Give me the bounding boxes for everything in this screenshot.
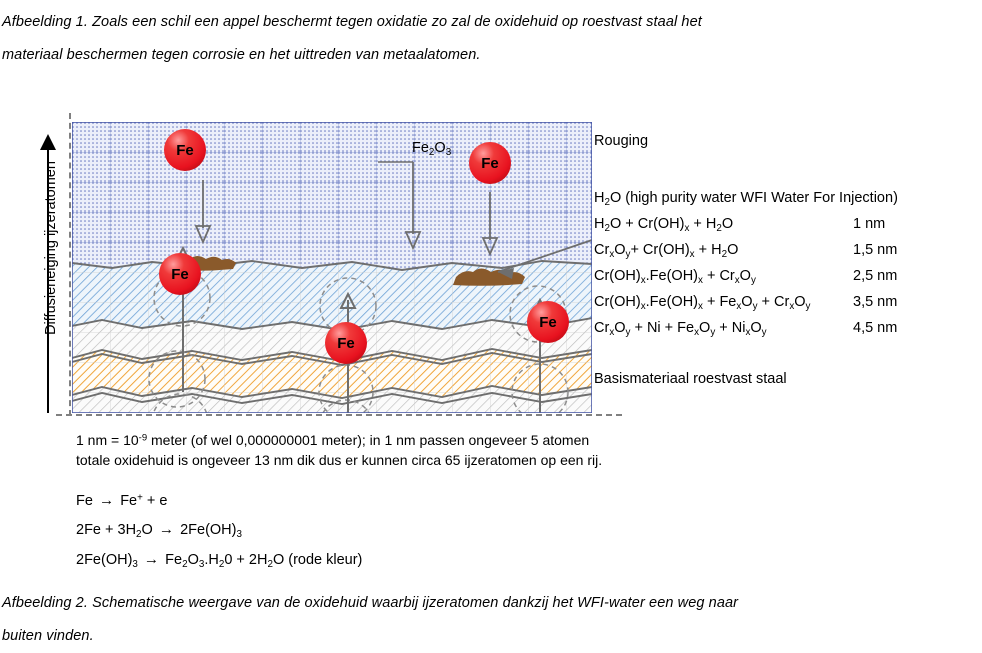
frame-bottom-dashed-border — [56, 414, 622, 416]
oxide-layer-diagram — [72, 122, 592, 413]
layer-formula-5: CrxOy + Ni + FexOy + NixOy — [594, 320, 767, 338]
eq2: 2Fe + 3H2O → 2Fe(OH)3 — [76, 521, 242, 540]
atom-label: Fe — [481, 155, 499, 172]
axis-label: Diffusieneiging ijzeratomen — [43, 123, 59, 373]
layer-formula-2: CrxOy+ Cr(OH)x + H2O — [594, 242, 738, 260]
figure2-caption-line1: Afbeelding 2. Schematische weergave van … — [2, 587, 738, 620]
eq3: 2Fe(OH)3 → Fe2O3.H20 + 2H2O (rode kleur) — [76, 551, 362, 570]
rouging-label: Rouging — [594, 133, 648, 149]
frame-left-dashed-border — [69, 113, 71, 416]
layer-formula-4: Cr(OH)x.Fe(OH)x + FexOy + CrxOy — [594, 294, 810, 312]
layer-thickness-1: 1 nm — [853, 216, 885, 232]
nm-definition-note-line2: totale oxidehuid is ongeveer 13 nm dik d… — [76, 452, 602, 468]
atom-label: Fe — [337, 335, 355, 352]
figure2-caption-line2: buiten vinden. — [2, 620, 94, 653]
fe-bottom-mid: Fe — [325, 322, 367, 364]
diffusion-axis: Diffusieneiging ijzeratomen — [14, 120, 64, 415]
atom-label: Fe — [176, 142, 194, 159]
layer-thickness-5: 4,5 nm — [853, 320, 897, 336]
layer-formula-3: Cr(OH)x.Fe(OH)x + CrxOy — [594, 268, 756, 286]
fe2o3-label: Fe2O3 — [412, 140, 451, 158]
layer-thickness-4: 3,5 nm — [853, 294, 897, 310]
figure1-caption-line2: materiaal beschermen tegen corrosie en h… — [2, 39, 481, 72]
fe-top-right: Fe — [469, 142, 511, 184]
atom-label: Fe — [171, 266, 189, 283]
layer-thickness-3: 2,5 nm — [853, 268, 897, 284]
fe-mid-left: Fe — [159, 253, 201, 295]
eq1: Fe → Fe+ + e — [76, 492, 167, 509]
base-material-label: Basismateriaal roestvast staal — [594, 371, 787, 387]
atom-label: Fe — [539, 314, 557, 331]
nm-definition-note-line1: 1 nm = 10-9 meter (of wel 0,000000001 me… — [76, 432, 589, 448]
layer-formula-0: H2O (high purity water WFI Water For Inj… — [594, 190, 898, 208]
fe-top-left: Fe — [164, 129, 206, 171]
figure1-caption-line1: Afbeelding 1. Zoals een schil een appel … — [2, 6, 702, 39]
layer-formula-1: H2O + Cr(OH)x + H2O — [594, 216, 733, 234]
fe-mid-right: Fe — [527, 301, 569, 343]
layer-thickness-2: 1,5 nm — [853, 242, 897, 258]
